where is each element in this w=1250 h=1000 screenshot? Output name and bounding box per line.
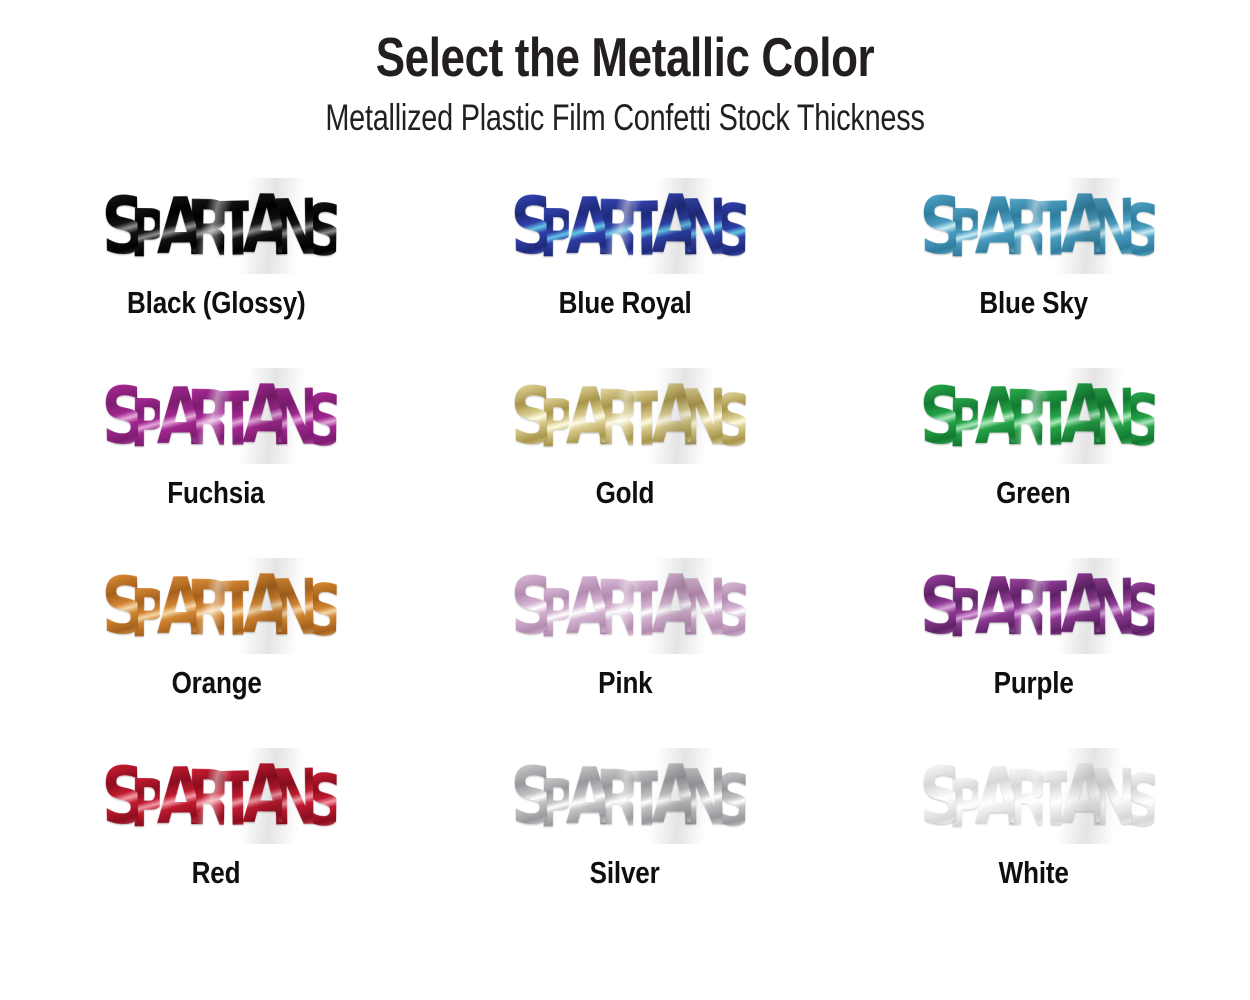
wordmark-confetti-piece: SPARTANS <box>46 558 386 654</box>
wordmark-text: SPARTANS <box>511 758 740 834</box>
color-swatch-black-glossy[interactable]: SPARTANSBlack (Glossy) <box>12 178 421 368</box>
wordmark-glyph: S <box>101 566 139 646</box>
wordmark-text: SPARTANS <box>102 568 331 644</box>
wordmark-confetti-piece: SPARTANS <box>46 748 386 844</box>
color-swatch-pink[interactable]: SPARTANSPink <box>421 558 830 748</box>
wordmark-glyph: A <box>974 377 1014 455</box>
wordmark-confetti-piece: SPARTANS <box>864 748 1204 844</box>
wordmark-glyph: S <box>919 566 957 646</box>
wordmark-confetti-piece: SPARTANS <box>46 178 386 274</box>
wordmark-glyph: S <box>101 376 139 456</box>
color-swatch-label: Pink <box>598 666 652 700</box>
wordmark-glyph: S <box>101 186 139 266</box>
wordmark-confetti-piece: SPARTANS <box>455 368 795 464</box>
color-swatch-gold[interactable]: SPARTANSGold <box>421 368 830 558</box>
color-swatch-fuchsia[interactable]: SPARTANSFuchsia <box>12 368 421 558</box>
wordmark-glyph: S <box>510 186 548 266</box>
wordmark-glyph: A <box>974 757 1014 835</box>
page-header: Select the Metallic Color Metallized Pla… <box>0 26 1250 140</box>
wordmark-text: SPARTANS <box>511 378 740 454</box>
wordmark-glyph: S <box>101 756 139 836</box>
wordmark-glyph: S <box>510 756 548 836</box>
page-title: Select the Metallic Color <box>125 26 1125 88</box>
color-swatch-label: Red <box>192 856 241 890</box>
color-swatch-label: Blue Royal <box>559 286 692 320</box>
color-swatch-purple[interactable]: SPARTANSPurple <box>829 558 1238 748</box>
wordmark-glyph: S <box>510 566 548 646</box>
wordmark-confetti-piece: SPARTANS <box>46 368 386 464</box>
wordmark-text: SPARTANS <box>102 188 331 264</box>
wordmark-confetti-piece: SPARTANS <box>455 748 795 844</box>
color-swatch-label: White <box>999 856 1069 890</box>
wordmark-confetti-piece: SPARTANS <box>864 178 1204 274</box>
wordmark-glyph: S <box>510 376 548 456</box>
color-swatch-grid: SPARTANSBlack (Glossy)SPARTANSBlue Royal… <box>12 178 1238 938</box>
color-swatch-label: Gold <box>596 476 655 510</box>
color-swatch-label: Silver <box>590 856 660 890</box>
wordmark-text: SPARTANS <box>102 758 331 834</box>
color-swatch-label: Black (Glossy) <box>127 286 306 320</box>
wordmark-glyph: A <box>565 187 605 265</box>
color-swatch-label: Purple <box>994 666 1074 700</box>
wordmark-text: SPARTANS <box>919 378 1148 454</box>
wordmark-glyph: A <box>156 567 196 645</box>
wordmark-text: SPARTANS <box>511 188 740 264</box>
wordmark-confetti-piece: SPARTANS <box>864 558 1204 654</box>
wordmark-text: SPARTANS <box>919 568 1148 644</box>
wordmark-glyph: S <box>919 186 957 266</box>
wordmark-glyph: A <box>156 757 196 835</box>
color-swatch-red[interactable]: SPARTANSRed <box>12 748 421 938</box>
wordmark-glyph: S <box>919 376 957 456</box>
color-swatch-silver[interactable]: SPARTANSSilver <box>421 748 830 938</box>
wordmark-glyph: A <box>974 567 1014 645</box>
wordmark-glyph: S <box>919 756 957 836</box>
color-swatch-label: Green <box>996 476 1070 510</box>
wordmark-text: SPARTANS <box>511 568 740 644</box>
color-swatch-blue-sky[interactable]: SPARTANSBlue Sky <box>829 178 1238 368</box>
wordmark-confetti-piece: SPARTANS <box>864 368 1204 464</box>
wordmark-glyph: A <box>156 187 196 265</box>
wordmark-confetti-piece: SPARTANS <box>455 178 795 274</box>
color-swatch-green[interactable]: SPARTANSGreen <box>829 368 1238 558</box>
color-swatch-blue-royal[interactable]: SPARTANSBlue Royal <box>421 178 830 368</box>
color-selector-page: Select the Metallic Color Metallized Pla… <box>0 0 1250 1000</box>
color-swatch-label: Blue Sky <box>979 286 1088 320</box>
color-swatch-orange[interactable]: SPARTANSOrange <box>12 558 421 748</box>
color-swatch-label: Fuchsia <box>168 476 265 510</box>
wordmark-confetti-piece: SPARTANS <box>455 558 795 654</box>
page-subtitle: Metallized Plastic Film Confetti Stock T… <box>138 96 1113 140</box>
wordmark-text: SPARTANS <box>919 758 1148 834</box>
wordmark-glyph: A <box>565 567 605 645</box>
wordmark-glyph: A <box>565 757 605 835</box>
color-swatch-white[interactable]: SPARTANSWhite <box>829 748 1238 938</box>
wordmark-glyph: A <box>156 377 196 455</box>
wordmark-text: SPARTANS <box>919 188 1148 264</box>
color-swatch-label: Orange <box>171 666 261 700</box>
wordmark-glyph: A <box>565 377 605 455</box>
wordmark-glyph: A <box>974 187 1014 265</box>
wordmark-text: SPARTANS <box>102 378 331 454</box>
